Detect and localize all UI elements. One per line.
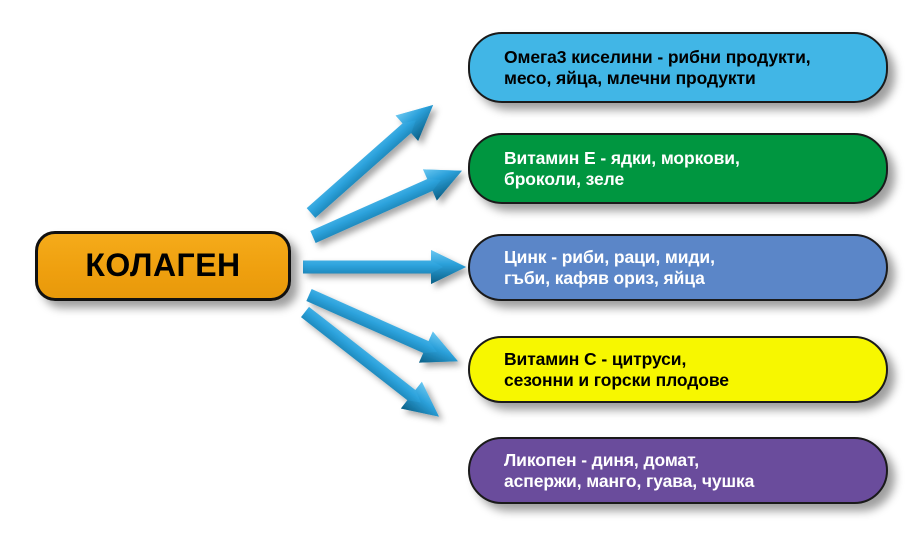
node-vitamin-e-label: Витамин E - ядки, моркови, броколи, зеле	[470, 148, 754, 189]
node-omega3-label: Омега3 киселини - рибни продукти, месо, …	[470, 47, 825, 88]
node-lycopene-label: Ликопен - диня, домат, аспержи, манго, г…	[470, 450, 768, 491]
node-zinc-label: Цинк - риби, раци, миди, гъби, кафяв ори…	[470, 247, 729, 288]
node-collagen[interactable]: КОЛАГЕН	[35, 231, 291, 301]
node-vitamin-c[interactable]: Витамин C - цитруси, сезонни и горски пл…	[468, 336, 888, 403]
node-vitamin-e[interactable]: Витамин E - ядки, моркови, броколи, зеле	[468, 133, 888, 204]
node-collagen-label: КОЛАГЕН	[85, 247, 240, 284]
node-vitamin-c-label: Витамин C - цитруси, сезонни и горски пл…	[470, 349, 743, 390]
connector-arrow-zinc	[303, 250, 466, 284]
diagram-canvas: КОЛАГЕН Омега3 киселини - рибни продукти…	[0, 0, 914, 538]
node-zinc[interactable]: Цинк - риби, раци, миди, гъби, кафяв ори…	[468, 234, 888, 301]
node-lycopene[interactable]: Ликопен - диня, домат, аспержи, манго, г…	[468, 437, 888, 504]
node-omega3[interactable]: Омега3 киселини - рибни продукти, месо, …	[468, 32, 888, 103]
